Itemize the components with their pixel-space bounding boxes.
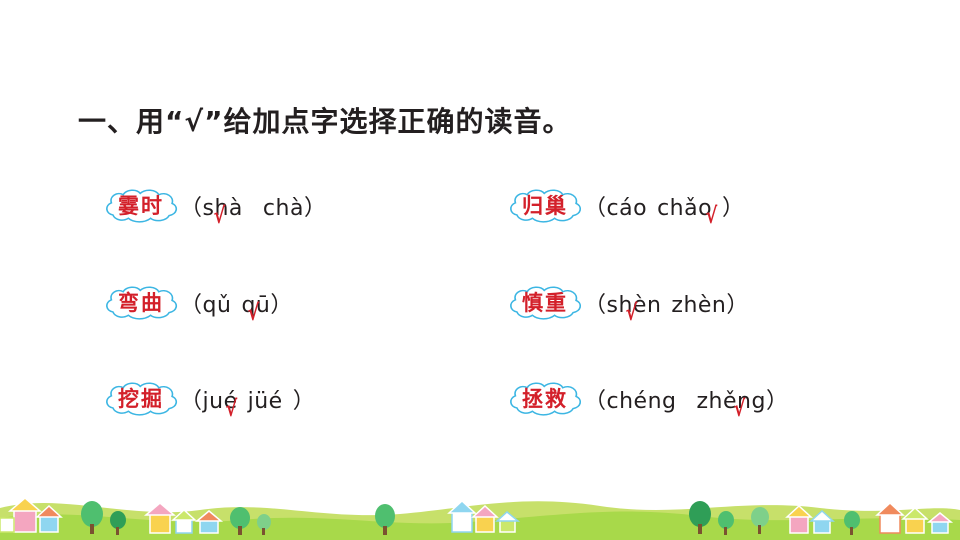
check-mark-3: √ bbox=[248, 303, 260, 325]
pinyin-group-1: （shàchà） √ bbox=[180, 190, 326, 222]
option-2b[interactable]: chǎo bbox=[657, 196, 712, 221]
exercise-item-4[interactable]: 慎重 （shènzhèn） √ bbox=[508, 285, 749, 320]
word-bubble-2: 归巢 bbox=[508, 188, 582, 223]
word-bubble-1: 霎时 bbox=[104, 188, 178, 223]
word-text-2: 归巢 bbox=[522, 193, 568, 218]
pinyin-group-3: （qǔqū） √ bbox=[180, 287, 293, 319]
close-paren-2: ） bbox=[722, 196, 745, 221]
option-4b[interactable]: zhèn bbox=[671, 293, 726, 318]
pinyin-group-4: （shènzhèn） √ bbox=[584, 287, 749, 319]
option-2a[interactable]: cáo bbox=[607, 196, 648, 221]
open-paren-5: （ bbox=[180, 389, 203, 414]
open-paren-1: （ bbox=[180, 196, 203, 221]
pinyin-group-6: （chéngzhěng） √ bbox=[584, 383, 788, 415]
word-bubble-4: 慎重 bbox=[508, 285, 582, 320]
check-mark-6: √ bbox=[734, 399, 746, 421]
slide-canvas: 一、用“√”给加点字选择正确的读音。 霎时 （shàchà） √ 归巢 （cáo… bbox=[0, 0, 960, 540]
close-paren-6: ） bbox=[766, 389, 789, 414]
word-text-4: 慎重 bbox=[522, 290, 568, 315]
open-paren-2: （ bbox=[584, 196, 607, 221]
page-title: 一、用“√”给加点字选择正确的读音。 bbox=[78, 100, 571, 140]
option-5b[interactable]: jüé bbox=[248, 389, 283, 414]
open-paren-3: （ bbox=[180, 293, 203, 318]
close-paren-3: ） bbox=[270, 293, 293, 318]
close-paren-5: ） bbox=[293, 389, 316, 414]
check-mark-5: √ bbox=[226, 399, 238, 421]
option-6a[interactable]: chéng bbox=[607, 389, 677, 414]
option-1b[interactable]: chà bbox=[263, 196, 304, 221]
pinyin-group-5: （juéjüé） √ bbox=[180, 383, 315, 415]
exercise-item-6[interactable]: 拯救 （chéngzhěng） √ bbox=[508, 381, 788, 416]
option-3a[interactable]: qǔ bbox=[203, 293, 232, 318]
word-text-3: 弯曲 bbox=[118, 290, 164, 315]
town-and-hills-border-icon bbox=[0, 470, 960, 540]
exercise-item-5[interactable]: 挖掘 （juéjüé） √ bbox=[104, 381, 315, 416]
exercise-item-2[interactable]: 归巢 （cáochǎo） √ bbox=[508, 188, 745, 223]
word-bubble-5: 挖掘 bbox=[104, 381, 178, 416]
word-text-6: 拯救 bbox=[522, 386, 568, 411]
word-text-5: 挖掘 bbox=[118, 386, 164, 411]
open-paren-6: （ bbox=[584, 389, 607, 414]
check-mark-1: √ bbox=[214, 206, 226, 228]
open-paren-4: （ bbox=[584, 293, 607, 318]
word-text-1: 霎时 bbox=[118, 193, 164, 218]
check-mark-4: √ bbox=[626, 303, 638, 325]
option-6b[interactable]: zhěng bbox=[697, 389, 766, 414]
close-paren-1: ） bbox=[304, 196, 327, 221]
word-bubble-6: 拯救 bbox=[508, 381, 582, 416]
check-mark-2: √ bbox=[706, 206, 718, 228]
pinyin-group-2: （cáochǎo） √ bbox=[584, 190, 745, 222]
exercise-item-1[interactable]: 霎时 （shàchà） √ bbox=[104, 188, 326, 223]
close-paren-4: ） bbox=[726, 293, 749, 318]
word-bubble-3: 弯曲 bbox=[104, 285, 178, 320]
exercise-item-3[interactable]: 弯曲 （qǔqū） √ bbox=[104, 285, 293, 320]
